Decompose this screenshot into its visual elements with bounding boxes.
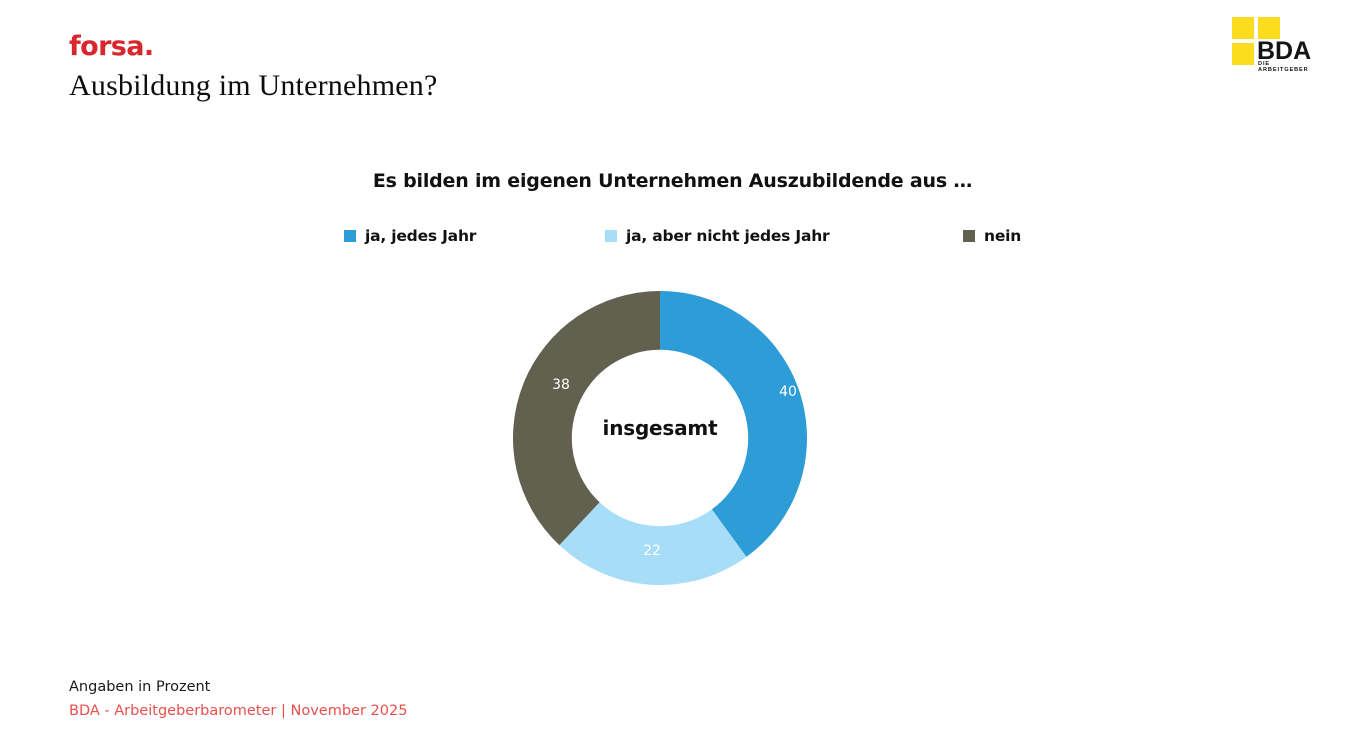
footer-source: BDA - Arbeitgeberbarometer | November 20… bbox=[69, 700, 769, 724]
legend-label: ja, jedes Jahr bbox=[365, 227, 476, 245]
bda-logo: BDA DIE ARBEITGEBER bbox=[1232, 17, 1304, 67]
bda-logo-subtitle: DIE ARBEITGEBER bbox=[1258, 62, 1309, 73]
legend-item-nein[interactable]: nein bbox=[963, 224, 1021, 248]
donut-center-label: insgesamt bbox=[513, 416, 807, 440]
bda-square-bottom-left bbox=[1232, 43, 1254, 65]
bda-square-top-right bbox=[1258, 17, 1280, 39]
legend-label: ja, aber nicht jedes Jahr bbox=[626, 227, 830, 245]
legend-item-ja-aber-nicht-jedes-jahr[interactable]: ja, aber nicht jedes Jahr bbox=[605, 224, 830, 248]
slice-value-ja-aber-nicht-jedes-jahr: 22 bbox=[632, 543, 672, 559]
legend-item-ja-jedes-jahr[interactable]: ja, jedes Jahr bbox=[344, 224, 476, 248]
page-title: Ausbildung im Unternehmen? bbox=[69, 68, 437, 104]
footer: Angaben in Prozent BDA - Arbeitgeberbaro… bbox=[69, 676, 769, 724]
legend-label: nein bbox=[984, 227, 1021, 245]
slice-value-nein: 38 bbox=[541, 377, 581, 393]
chart-title: Es bilden im eigenen Unternehmen Auszubi… bbox=[0, 170, 1345, 192]
legend-swatch-icon bbox=[605, 230, 617, 242]
forsa-logo: forsa. bbox=[69, 33, 154, 60]
legend-swatch-icon bbox=[963, 230, 975, 242]
slice-value-ja-jedes-jahr: 40 bbox=[768, 384, 808, 400]
donut-chart: insgesamt 40 22 38 bbox=[513, 291, 807, 585]
bda-square-top-left bbox=[1232, 17, 1254, 39]
legend-swatch-icon bbox=[344, 230, 356, 242]
chart-legend: ja, jedes Jahr ja, aber nicht jedes Jahr… bbox=[344, 224, 1044, 248]
footer-note: Angaben in Prozent bbox=[69, 676, 769, 700]
page-header: forsa. Ausbildung im Unternehmen? BDA DI… bbox=[0, 0, 1345, 120]
